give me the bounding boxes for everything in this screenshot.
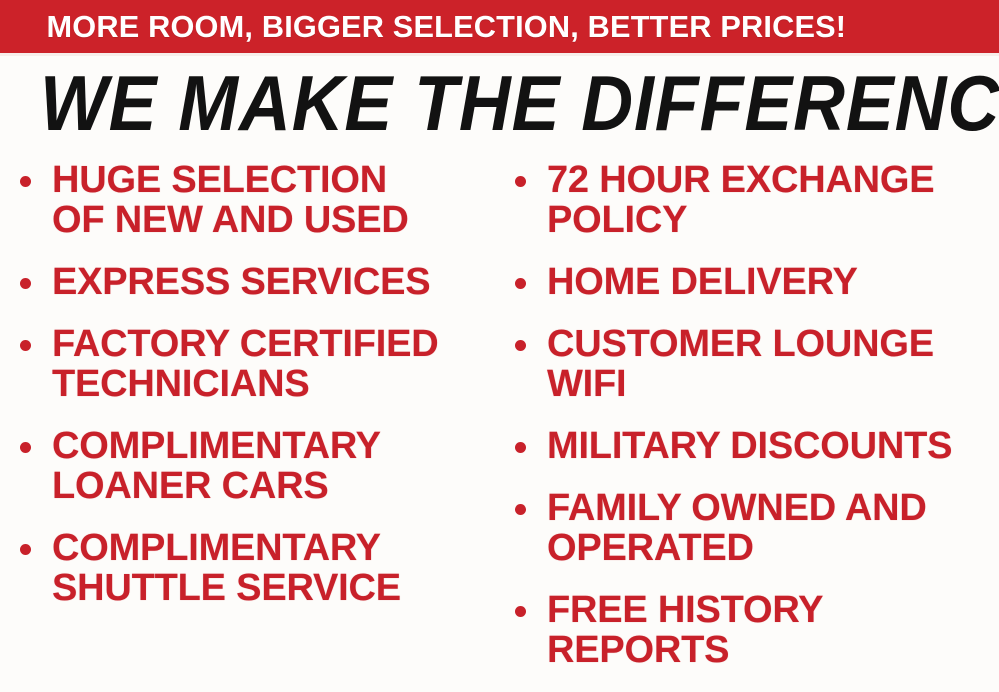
bullet-dot-icon — [20, 544, 31, 555]
bullet-dot-icon — [515, 442, 526, 453]
benefits-column-left: HUGE SELECTION OF NEW AND USED EXPRESS S… — [16, 160, 503, 630]
list-item: MILITARY DISCOUNTS — [513, 426, 999, 466]
list-item: 72 HOUR EXCHANGE POLICY — [513, 160, 999, 240]
list-item: FAMILY OWNED AND OPERATED — [513, 488, 999, 568]
list-item: FREE HISTORY REPORTS — [513, 590, 999, 670]
list-item: HOME DELIVERY — [513, 262, 999, 302]
bullet-dot-icon — [20, 278, 31, 289]
benefits-column-right: 72 HOUR EXCHANGE POLICY HOME DELIVERY CU… — [513, 160, 999, 692]
bullet-dot-icon — [20, 340, 31, 351]
bullet-dot-icon — [20, 442, 31, 453]
bullet-dot-icon — [515, 278, 526, 289]
bullet-dot-icon — [515, 606, 526, 617]
promo-poster: MORE ROOM, BIGGER SELECTION, BETTER PRIC… — [0, 0, 999, 692]
benefits-columns: HUGE SELECTION OF NEW AND USED EXPRESS S… — [0, 160, 999, 692]
top-banner: MORE ROOM, BIGGER SELECTION, BETTER PRIC… — [0, 0, 999, 53]
list-item-label: HUGE SELECTION OF NEW AND USED — [52, 160, 503, 240]
list-item: HUGE SELECTION OF NEW AND USED — [16, 160, 503, 240]
list-item-label: HOME DELIVERY — [547, 262, 999, 302]
list-item-label: FAMILY OWNED AND OPERATED — [547, 488, 999, 568]
bullet-dot-icon — [515, 176, 526, 187]
list-item: EXPRESS SERVICES — [16, 262, 503, 302]
list-item-label: 72 HOUR EXCHANGE POLICY — [547, 160, 999, 240]
list-item-label: COMPLIMENTARY LOANER CARS — [52, 426, 503, 506]
banner-underline-divider — [0, 53, 999, 56]
list-item: COMPLIMENTARY SHUTTLE SERVICE — [16, 528, 503, 608]
bullet-dot-icon — [20, 176, 31, 187]
bullet-dot-icon — [515, 504, 526, 515]
list-item-label: COMPLIMENTARY SHUTTLE SERVICE — [52, 528, 503, 608]
top-banner-text: MORE ROOM, BIGGER SELECTION, BETTER PRIC… — [0, 11, 846, 42]
list-item: COMPLIMENTARY LOANER CARS — [16, 426, 503, 506]
list-item-label: CUSTOMER LOUNGE WIFI — [547, 324, 999, 404]
list-item: FACTORY CERTIFIED TECHNICIANS — [16, 324, 503, 404]
list-item: CUSTOMER LOUNGE WIFI — [513, 324, 999, 404]
page-title: WE MAKE THE DIFFERENCE — [40, 63, 959, 143]
bullet-dot-icon — [515, 340, 526, 351]
list-item-label: MILITARY DISCOUNTS — [547, 426, 999, 466]
list-item-label: EXPRESS SERVICES — [52, 262, 503, 302]
list-item-label: FREE HISTORY REPORTS — [547, 590, 999, 670]
list-item-label: FACTORY CERTIFIED TECHNICIANS — [52, 324, 503, 404]
